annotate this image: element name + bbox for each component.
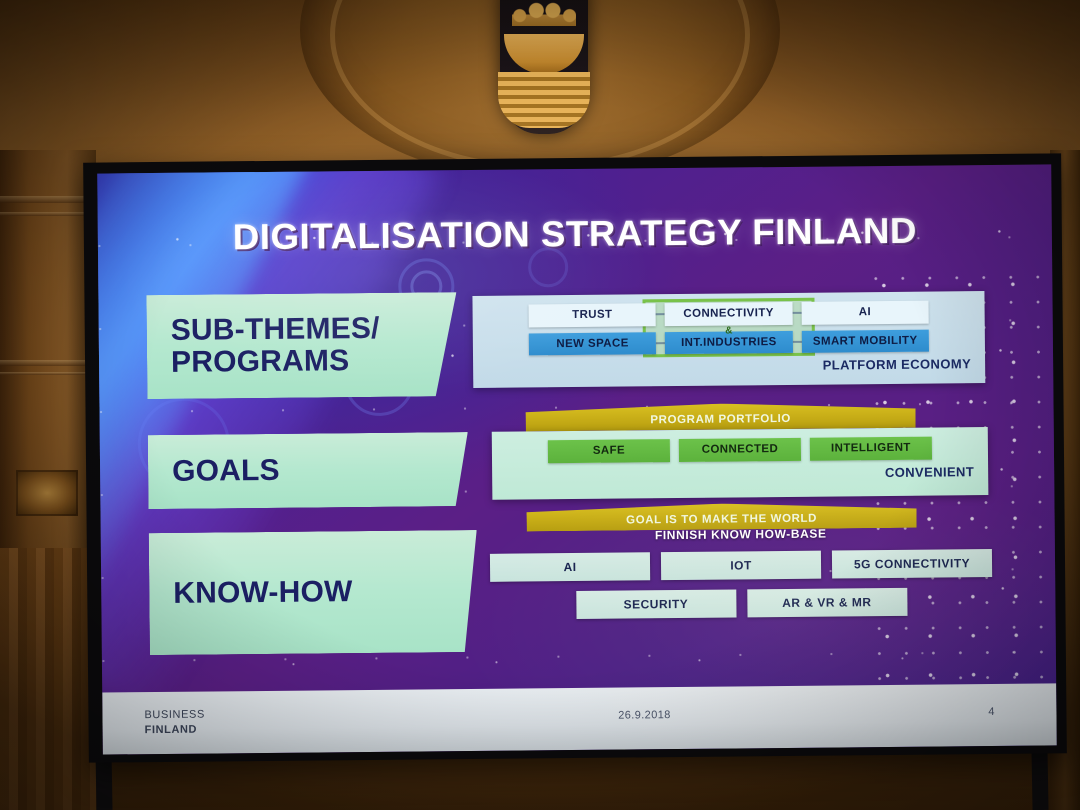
row-knowhow: KNOW-HOW FINNISH KNOW HOW-BASE AI IOT 5G… — [101, 524, 1056, 663]
chip-smart-mobility[interactable]: SMART MOBILITY — [801, 329, 929, 353]
knowhow-content: FINNISH KNOW HOW-BASE AI IOT 5G CONNECTI… — [481, 525, 1002, 620]
banner-goal-label: GOAL IS TO MAKE THE WORLD — [626, 507, 817, 526]
wall-moulding — [0, 212, 96, 216]
wall-moulding — [0, 372, 96, 375]
row-subthemes: SUB-THEMES/ PROGRAMS & TRUST — [98, 286, 1053, 405]
slide-footer: BUSINESS FINLAND 26.9.2018 4 — [102, 683, 1057, 754]
chip-knowhow-ar-vr-mr[interactable]: AR & VR & MR — [747, 588, 907, 618]
banner-program-portfolio-label: PROGRAM PORTFOLIO — [650, 407, 791, 425]
label-panel-goals: GOALS — [148, 432, 469, 509]
footer-brand-line1: BUSINESS — [144, 708, 205, 723]
corner-label-convenient: CONVENIENT — [502, 464, 978, 484]
cell-connectivity: CONNECTIVITY — [665, 302, 793, 326]
goals-row: SAFE CONNECTED INTELLIGENT — [548, 437, 932, 463]
label-subthemes-line1: SUB-THEMES/ — [171, 313, 380, 347]
chip-knowhow-5g-connectivity[interactable]: 5G CONNECTIVITY — [832, 549, 992, 579]
cell-trust: TRUST — [529, 303, 657, 327]
cell-connected: CONNECTED — [679, 438, 801, 462]
label-panel-knowhow: KNOW-HOW — [149, 530, 478, 655]
screen-stand-right — [1031, 748, 1048, 810]
cell-new-space: NEW SPACE — [529, 332, 657, 356]
chip-trust[interactable]: TRUST — [529, 303, 657, 327]
curtain — [0, 548, 96, 810]
row-goals: GOALS SAFE CONNECTED INTELLIGENT — [100, 426, 1055, 519]
corner-label-platform-economy: PLATFORM ECONOMY — [483, 356, 975, 376]
goals-grid: SAFE CONNECTED INTELLIGENT — [502, 436, 978, 463]
footer-page-number: 4 — [988, 706, 994, 718]
footer-date: 26.9.2018 — [232, 705, 1056, 725]
subthemes-top-row: TRUST CONNECTIVITY AI — [529, 301, 929, 327]
chip-safe[interactable]: SAFE — [548, 439, 670, 463]
label-goals: GOALS — [172, 454, 280, 489]
wall-medallion-ornament — [16, 470, 78, 516]
presentation-slide: DIGITALISATION STRATEGY FINLAND SUB-THEM… — [97, 164, 1057, 754]
knowhow-row-2: SECURITY AR & VR & MR — [481, 587, 1001, 620]
content-panel-goals: SAFE CONNECTED INTELLIGENT CONVENIENT — [492, 427, 989, 500]
chip-connectivity[interactable]: CONNECTIVITY — [665, 302, 793, 326]
chip-knowhow-ai[interactable]: AI — [490, 552, 650, 582]
cell-safe: SAFE — [548, 439, 670, 463]
knowhow-row-1: AI IOT 5G CONNECTIVITY — [481, 549, 1001, 582]
chip-ai[interactable]: AI — [801, 301, 929, 325]
chip-connected[interactable]: CONNECTED — [679, 438, 801, 462]
label-subthemes-line2: PROGRAMS — [171, 345, 380, 379]
label-panel-subthemes: SUB-THEMES/ PROGRAMS — [146, 292, 457, 399]
projection-screen-frame: DIGITALISATION STRATEGY FINLAND SUB-THEM… — [83, 153, 1067, 762]
cell-intelligent: INTELLIGENT — [810, 437, 932, 461]
coat-of-arms-crown-icon — [512, 0, 576, 26]
label-knowhow: KNOW-HOW — [173, 575, 353, 611]
connector-dash — [792, 312, 801, 314]
chip-knowhow-security[interactable]: SECURITY — [576, 589, 736, 619]
footer-brand-business-finland: BUSINESS FINLAND — [144, 708, 205, 738]
chip-new-space[interactable]: NEW SPACE — [529, 332, 657, 356]
content-panel-subthemes: & TRUST CONNECTIVITY AI — [472, 291, 985, 388]
footer-brand-line2: FINLAND — [145, 722, 206, 737]
wall-moulding — [0, 196, 96, 203]
highlight-ampersand: & — [725, 325, 732, 336]
subthemes-grid: & TRUST CONNECTIVITY AI — [483, 300, 975, 356]
cell-smart-mobility: SMART MOBILITY — [801, 329, 929, 353]
cell-ai: AI — [801, 301, 929, 325]
chip-intelligent[interactable]: INTELLIGENT — [810, 437, 932, 461]
chip-knowhow-iot[interactable]: IOT — [661, 551, 821, 581]
coat-of-arms-waves-icon — [498, 72, 590, 128]
connector-dash — [656, 313, 665, 315]
conference-room-photo: DIGITALISATION STRATEGY FINLAND SUB-THEM… — [0, 0, 1080, 810]
connector-dash — [656, 342, 665, 344]
wall-moulding — [0, 360, 96, 366]
connector-dash — [793, 341, 802, 343]
